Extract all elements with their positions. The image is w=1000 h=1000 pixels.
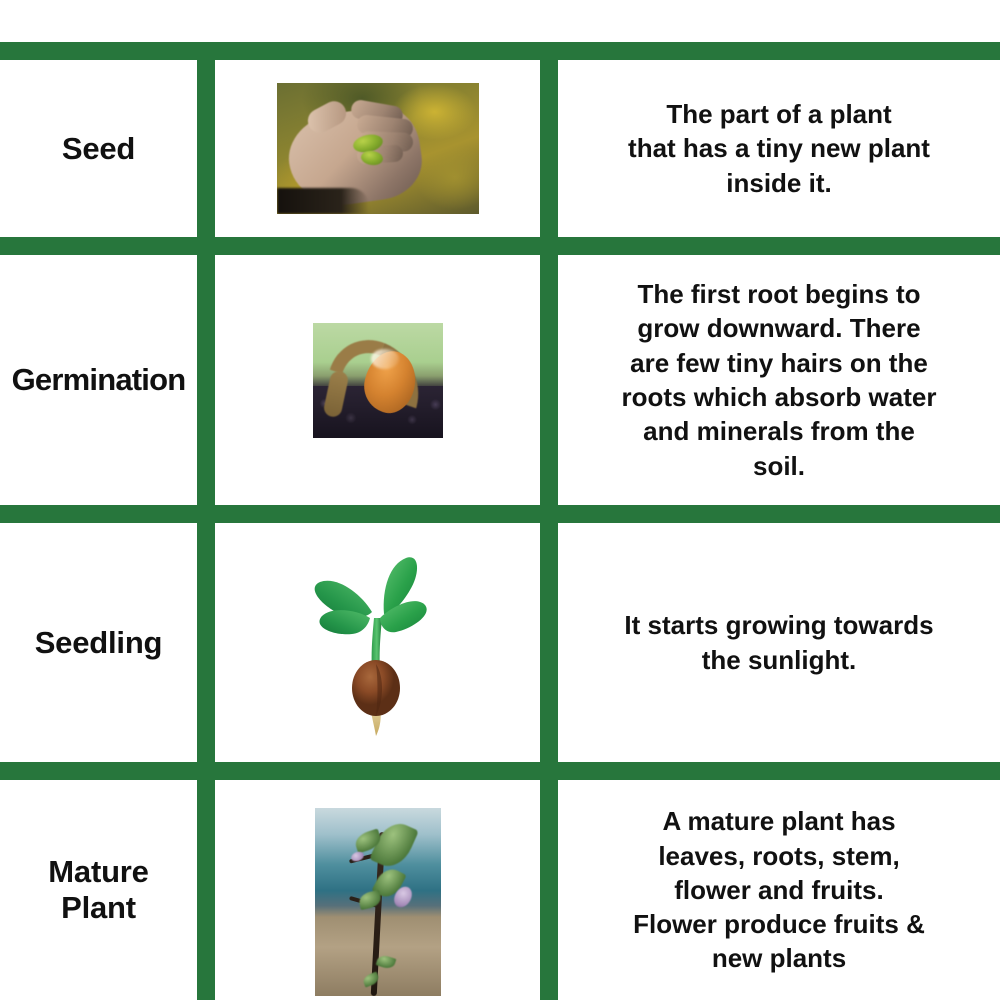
grid-line-col-2 (540, 42, 558, 1000)
germinating-seed-photo (313, 323, 443, 438)
description-text-mature-plant: A mature plant has leaves, roots, stem, … (611, 804, 947, 976)
table-row: Mature Plant (0, 780, 197, 1000)
table-row: Seedling (0, 523, 197, 762)
plant-life-cycle-table: Seed The part of a plant that has a tiny… (0, 0, 1000, 1000)
description-cell-germination: The first root begins to grow downward. … (558, 255, 1000, 505)
hand-holding-seeds-photo (277, 83, 479, 214)
stage-label-seedling: Seedling (33, 625, 165, 661)
seed-shape (352, 660, 400, 716)
seed-highlight (371, 349, 399, 369)
stage-label-seed: Seed (60, 131, 137, 167)
grid-line-top (0, 42, 1000, 60)
illustration-cell-seedling (215, 523, 540, 762)
illustration-cell-mature-plant (215, 780, 540, 1000)
description-text-seedling: It starts growing towards the sunlight. (602, 608, 955, 677)
illustration-cell-germination (215, 255, 540, 505)
table-row: Germination (0, 255, 197, 505)
illustration-cell-seed (215, 60, 540, 237)
stage-label-mature-plant: Mature Plant (46, 854, 150, 925)
description-cell-mature-plant: A mature plant has leaves, roots, stem, … (558, 780, 1000, 1000)
grid-line-row-3 (0, 762, 1000, 780)
mature-plant-photo (315, 808, 441, 996)
seedling-svg (298, 548, 458, 738)
grid-line-col-1 (197, 42, 215, 1000)
seedling-illustration (298, 548, 458, 738)
grid-line-row-2 (0, 505, 1000, 523)
description-text-germination: The first root begins to grow downward. … (600, 277, 959, 483)
table-row: Seed (0, 60, 197, 237)
stage-label-germination: Germination (0, 362, 197, 398)
sleeve-shape (277, 188, 369, 214)
grid-line-row-1 (0, 237, 1000, 255)
description-cell-seed: The part of a plant that has a tiny new … (558, 60, 1000, 237)
description-text-seed: The part of a plant that has a tiny new … (606, 97, 952, 200)
description-cell-seedling: It starts growing towards the sunlight. (558, 523, 1000, 762)
